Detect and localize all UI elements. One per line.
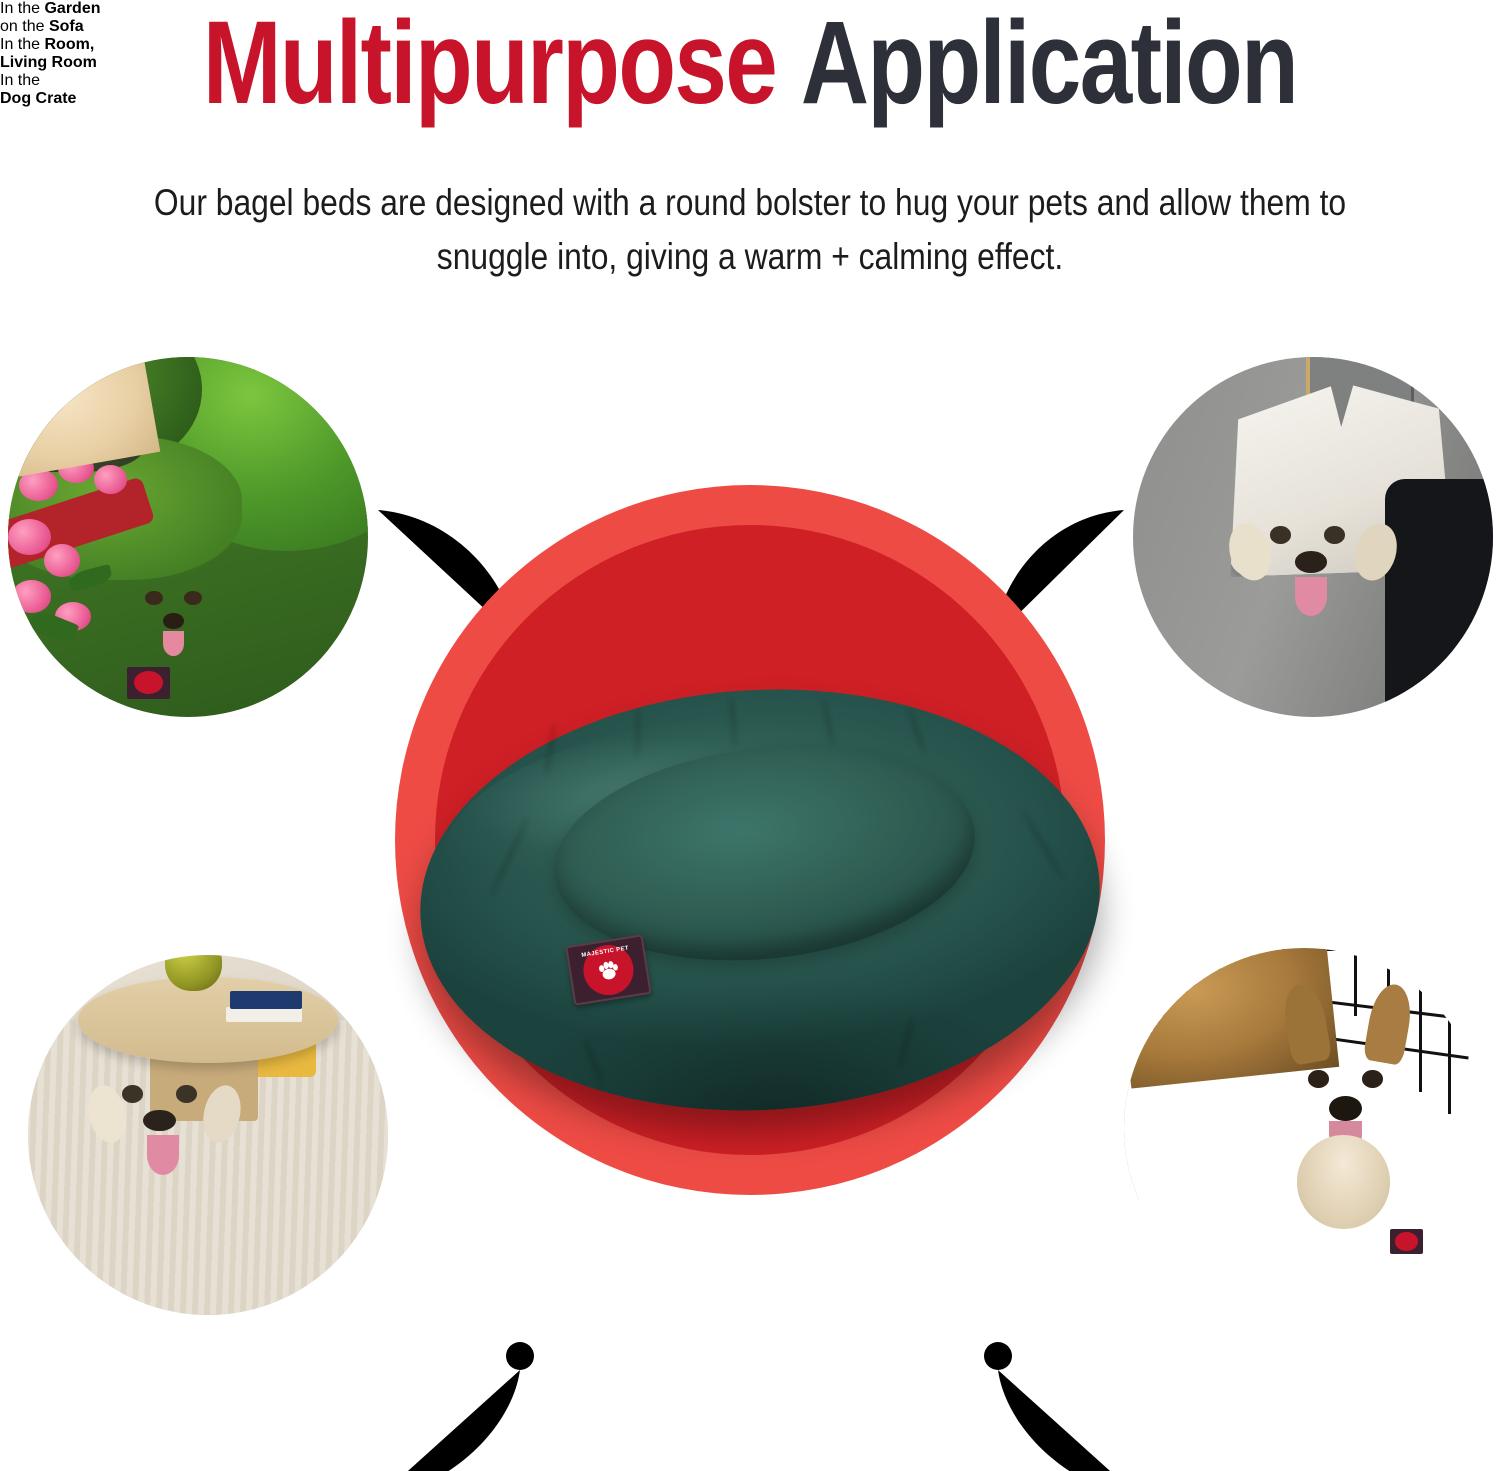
connector-line-dog-crate xyxy=(998,1370,1140,1471)
infographic-page: Multipurpose Application Our bagel beds … xyxy=(0,0,1500,1471)
bolster-fold xyxy=(582,1036,606,1089)
bolster-fold xyxy=(635,707,641,757)
bed-bolster: MAJESTIC PET xyxy=(409,672,1110,1127)
mini-bed-cushion xyxy=(28,1067,280,1200)
dog-tongue xyxy=(147,1135,179,1175)
dog-eye xyxy=(176,1085,198,1103)
crate-bar xyxy=(1322,948,1401,951)
dog-chest xyxy=(1297,1135,1391,1229)
brand-label-tag: MAJESTIC PET xyxy=(565,934,651,1005)
subtitle-line-1: Our bagel beds are designed with a round… xyxy=(45,176,1455,230)
connector-line-living-room xyxy=(378,1370,520,1471)
dog-nose xyxy=(143,1110,175,1132)
dog-crate-scene xyxy=(1124,948,1484,1308)
sofa-scene xyxy=(1133,357,1493,717)
bolster-fold xyxy=(544,722,557,777)
dog-tongue xyxy=(163,631,185,656)
title-part-application: Application xyxy=(801,0,1297,129)
bolster-fold xyxy=(898,1014,915,1068)
bolster-fold xyxy=(821,697,836,747)
mini-dog-bed xyxy=(30,490,368,717)
living-room-scene xyxy=(28,955,388,1315)
caption-sofa-bold: Sofa xyxy=(49,18,84,35)
mini-brand-tag xyxy=(1390,1229,1422,1254)
page-title: Multipurpose Application xyxy=(150,4,1350,122)
bolster-fold xyxy=(488,816,530,898)
callout-image-living-room xyxy=(28,955,388,1315)
subtitle-line-2: snuggle into, giving a warm + calming ef… xyxy=(45,230,1455,284)
connector-dot-dog-crate xyxy=(984,1342,1012,1370)
paw-print-icon xyxy=(594,955,624,985)
bolster-fold xyxy=(728,697,737,748)
book xyxy=(230,991,302,1009)
book xyxy=(226,1007,302,1021)
caption-sofa-prefix: on the xyxy=(0,18,49,35)
caption-living-room-prefix: In the xyxy=(0,36,44,53)
caption-dog-crate-prefix: In the xyxy=(0,72,40,89)
connector-dot-living-room xyxy=(506,1342,534,1370)
caption-garden-prefix: In the xyxy=(0,0,44,17)
bed-cushion xyxy=(544,727,985,980)
callout-image-garden xyxy=(8,357,368,717)
dog-eye xyxy=(122,1085,144,1103)
dog-nose xyxy=(163,613,185,629)
bolster-fold xyxy=(1020,809,1066,882)
callout-image-sofa xyxy=(1133,357,1493,717)
brand-label-text: MAJESTIC PET xyxy=(582,944,630,958)
caption-garden-bold: Garden xyxy=(44,0,100,17)
brand-logo-circle: MAJESTIC PET xyxy=(580,941,637,998)
garden-scene xyxy=(8,357,368,717)
product-image-dog-bed: MAJESTIC PET xyxy=(420,690,1100,1120)
bolster-fold xyxy=(907,707,928,756)
mini-brand-tag xyxy=(127,667,170,699)
page-subtitle: Our bagel beds are designed with a round… xyxy=(45,176,1455,285)
caption-living-room-bold: Room, xyxy=(44,36,94,53)
title-part-multipurpose: Multipurpose xyxy=(203,0,776,129)
callout-image-dog-crate xyxy=(1124,948,1484,1308)
caption-living-room-bold-2: Living Room xyxy=(0,54,97,71)
caption-dog-crate-bold-2: Dog Crate xyxy=(0,90,76,107)
dog-nose xyxy=(1329,1096,1361,1121)
